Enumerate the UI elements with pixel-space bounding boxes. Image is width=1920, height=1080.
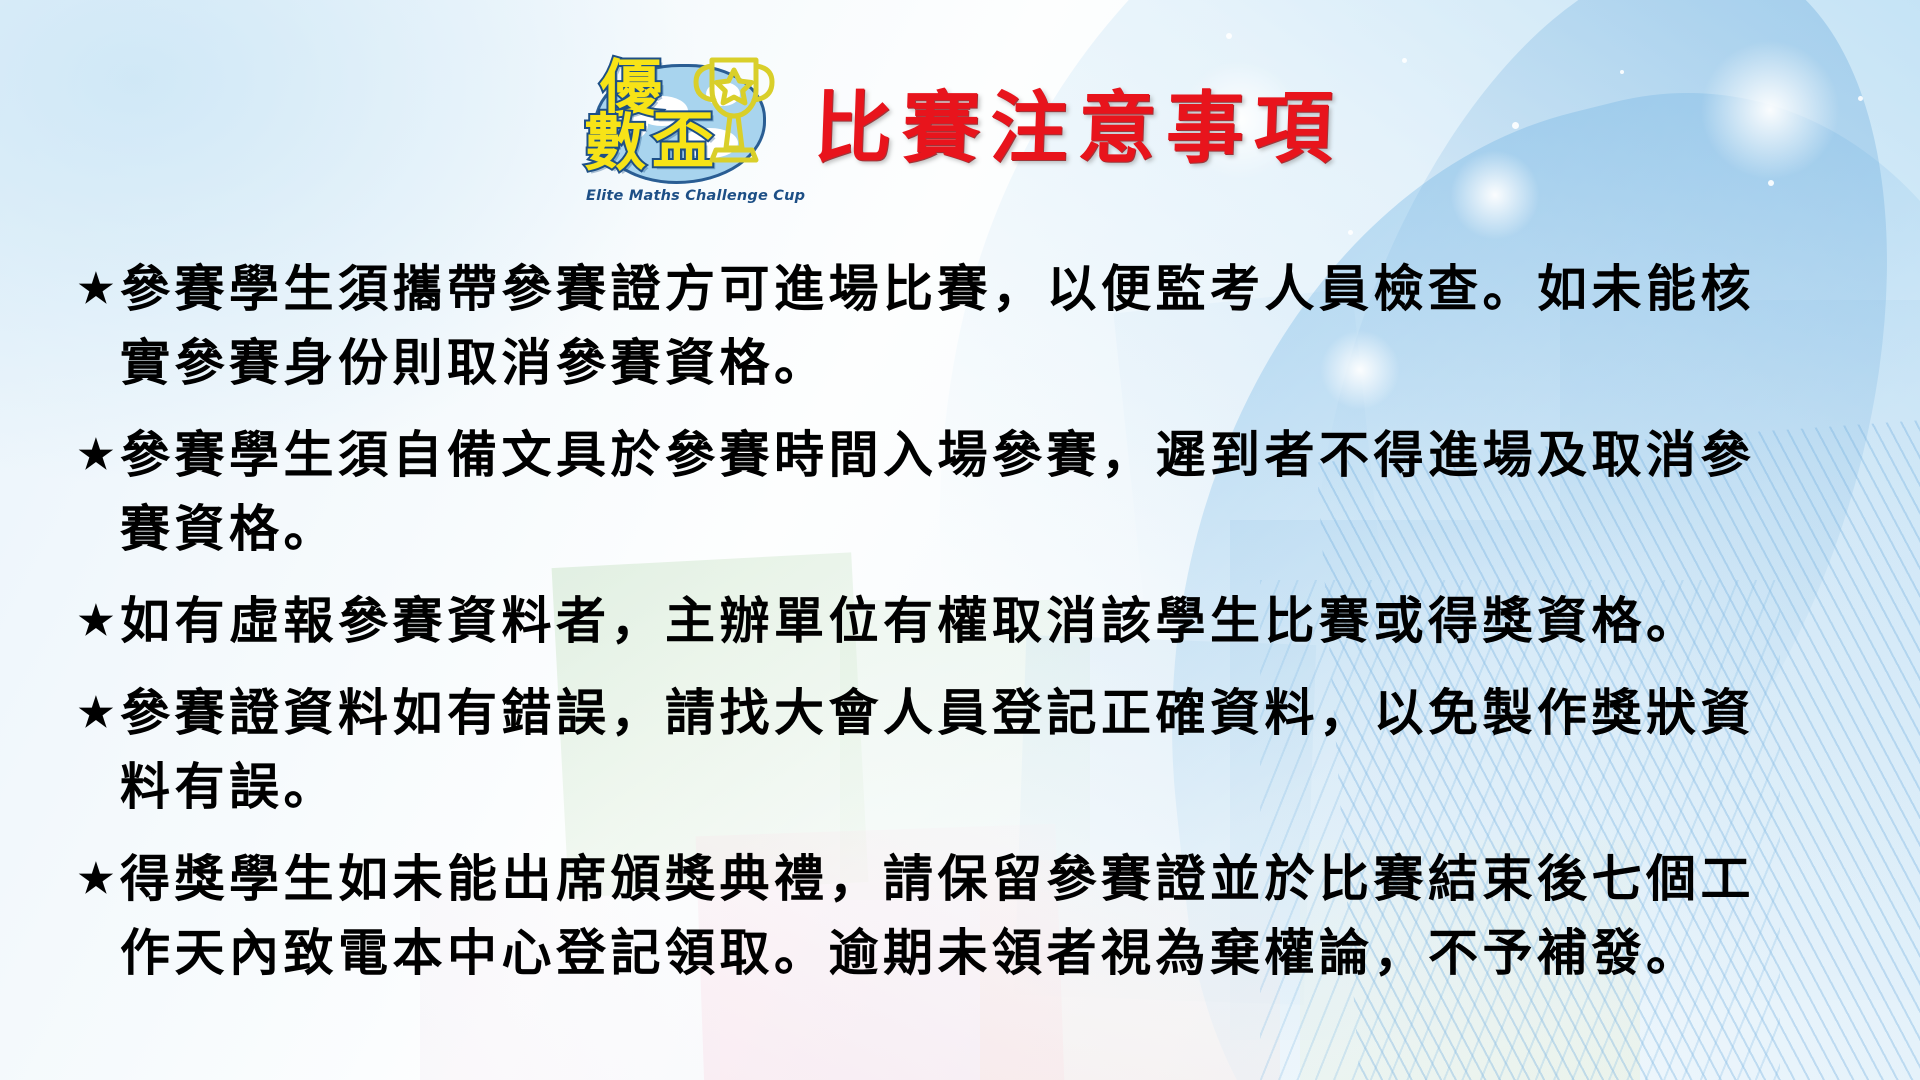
- bullet-star-icon: ★: [78, 418, 120, 492]
- notice-line-first: ★參賽證資料如有錯誤，請找大會人員登記正確資料，以免製作獎狀資: [78, 676, 1868, 750]
- notice-item: ★得獎學生如未能出席頒獎典禮，請保留參賽證並於比賽結束後七個工★作天內致電本中心…: [78, 842, 1868, 990]
- notice-text: 得獎學生如未能出席頒獎典禮，請保留參賽證並於比賽結束後七個工: [120, 842, 1755, 916]
- logo-subtitle: Elite Maths Challenge Cup: [586, 188, 796, 204]
- notice-text: 如有虛報參賽資料者，主辦單位有權取消該學生比賽或得獎資格。: [120, 584, 1701, 658]
- notice-line-continued: ★作天內致電本中心登記領取。逾期未領者視為棄權論，不予補發。: [78, 916, 1868, 990]
- slide-header: 優 數 盃 Elite Maths Challenge Cup 比賽注意事項: [0, 34, 1920, 224]
- notice-line-first: ★參賽學生須自備文具於參賽時間入場參賽，遲到者不得進場及取消參: [78, 418, 1868, 492]
- bullet-star-icon: ★: [78, 676, 120, 750]
- notice-item: ★參賽證資料如有錯誤，請找大會人員登記正確資料，以免製作獎狀資★料有誤。: [78, 676, 1868, 824]
- notice-line-continued: ★實參賽身份則取消參賽資格。: [78, 326, 1868, 400]
- bullet-star-icon: ★: [78, 252, 120, 326]
- trophy-icon: [686, 46, 782, 174]
- notice-text: 賽資格。: [120, 492, 338, 566]
- notices-list: ★參賽學生須攜帶參賽證方可進場比賽，以便監考人員檢查。如未能核★實參賽身份則取消…: [78, 252, 1868, 1008]
- notice-text: 作天內致電本中心登記領取。逾期未領者視為棄權論，不予補發。: [120, 916, 1701, 990]
- notice-line-first: ★參賽學生須攜帶參賽證方可進場比賽，以便監考人員檢查。如未能核: [78, 252, 1868, 326]
- bg-sparkle-8: [1348, 230, 1353, 235]
- notice-line-first: ★得獎學生如未能出席頒獎典禮，請保留參賽證並於比賽結束後七個工: [78, 842, 1868, 916]
- notice-text: 參賽證資料如有錯誤，請找大會人員登記正確資料，以免製作獎狀資: [120, 676, 1755, 750]
- page-title: 比賽注意事項: [812, 66, 1344, 192]
- notice-item: ★如有虛報參賽資料者，主辦單位有權取消該學生比賽或得獎資格。: [78, 584, 1868, 658]
- logo-char-shu: 數: [584, 92, 644, 182]
- notice-line-continued: ★料有誤。: [78, 750, 1868, 824]
- bullet-star-icon: ★: [78, 584, 120, 658]
- bullet-star-icon: ★: [78, 842, 120, 916]
- slide-canvas: 優 數 盃 Elite Maths Challenge Cup 比賽注意事項 ★…: [0, 0, 1920, 1080]
- notice-line-continued: ★賽資格。: [78, 492, 1868, 566]
- notice-item: ★參賽學生須自備文具於參賽時間入場參賽，遲到者不得進場及取消參★賽資格。: [78, 418, 1868, 566]
- notice-item: ★參賽學生須攜帶參賽證方可進場比賽，以便監考人員檢查。如未能核★實參賽身份則取消…: [78, 252, 1868, 400]
- notice-line-first: ★如有虛報參賽資料者，主辦單位有權取消該學生比賽或得獎資格。: [78, 584, 1868, 658]
- notice-text: 實參賽身份則取消參賽資格。: [120, 326, 829, 400]
- notice-text: 料有誤。: [120, 750, 338, 824]
- competition-logo: 優 數 盃 Elite Maths Challenge Cup: [578, 42, 788, 217]
- notice-text: 參賽學生須自備文具於參賽時間入場參賽，遲到者不得進場及取消參: [120, 418, 1755, 492]
- notice-text: 參賽學生須攜帶參賽證方可進場比賽，以便監考人員檢查。如未能核: [120, 252, 1755, 326]
